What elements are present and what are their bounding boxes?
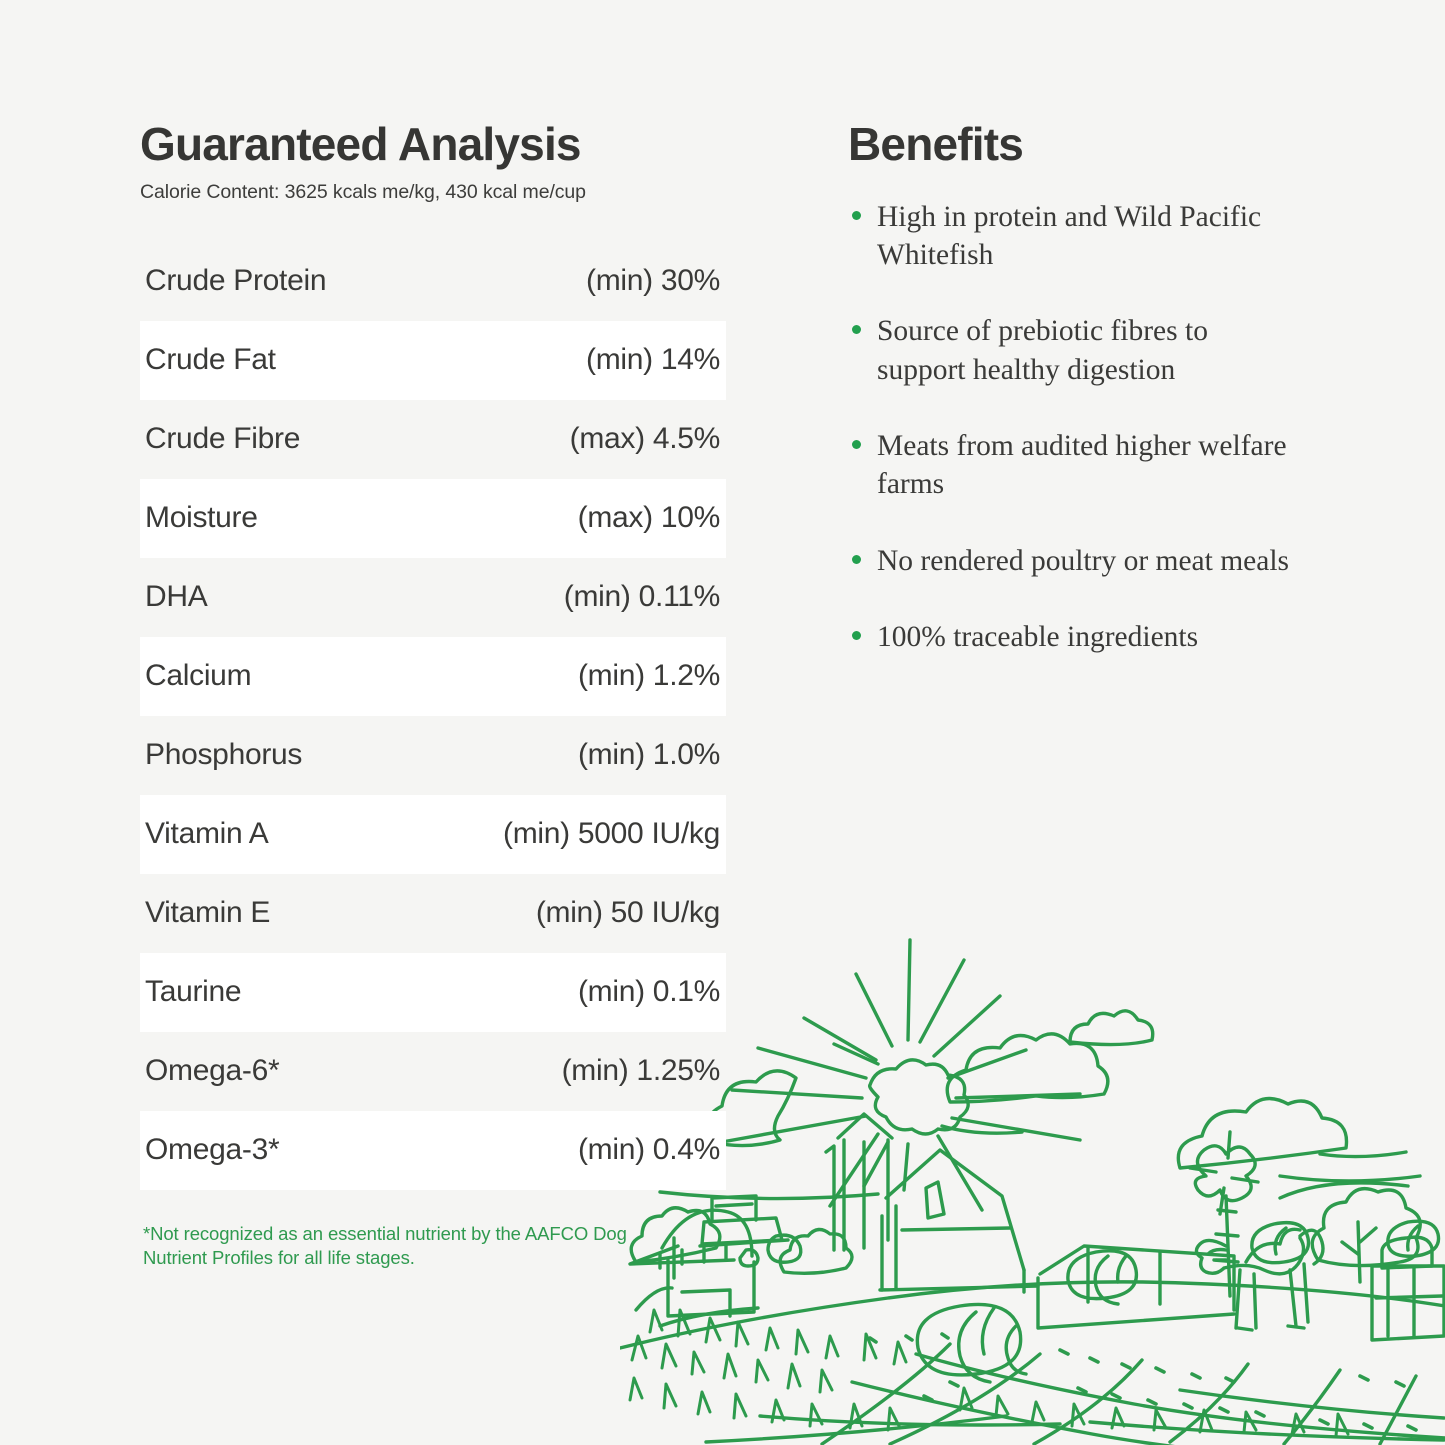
nutrient-value: (max) 4.5% xyxy=(570,422,720,456)
cloud-icon xyxy=(942,1034,1108,1133)
table-row: Moisture (max) 10% xyxy=(140,479,726,558)
silo-icon xyxy=(826,1114,892,1250)
nutrient-value: (min) 30% xyxy=(586,264,720,298)
field-rows xyxy=(620,1282,1445,1348)
farm-landscape-illustration xyxy=(620,930,1445,1445)
cloud-icon xyxy=(1280,1183,1408,1198)
nutrient-name: Vitamin A xyxy=(145,817,268,851)
nutrient-value: (min) 1.0% xyxy=(578,738,720,772)
table-row: Vitamin A (min) 5000 IU/kg xyxy=(140,795,726,874)
benefits-section: Benefits High in protein and Wild Pacifi… xyxy=(848,120,1318,656)
hay-bale-icon xyxy=(1372,1237,1444,1340)
table-row: Vitamin E (min) 50 IU/kg xyxy=(140,874,726,953)
nutrient-name: Crude Fat xyxy=(145,343,276,377)
nutrient-value: (min) 0.4% xyxy=(578,1133,720,1167)
table-row: Crude Fat (min) 14% xyxy=(140,321,726,400)
nutrient-name: Vitamin E xyxy=(145,896,270,930)
benefit-text: Meats from audited higher welfare farms xyxy=(877,430,1287,500)
guaranteed-analysis-table: Crude Protein (min) 30% Crude Fat (min) … xyxy=(140,242,726,1190)
bullet-icon xyxy=(852,555,861,564)
table-row: Crude Protein (min) 30% xyxy=(140,242,726,321)
table-row: DHA (min) 0.11% xyxy=(140,558,726,637)
nutrient-name: Moisture xyxy=(145,501,258,535)
benefits-title: Benefits xyxy=(848,120,1318,170)
nutrient-name: Phosphorus xyxy=(145,738,302,772)
nutrient-name: Omega-6* xyxy=(145,1054,279,1088)
nutrient-value: (max) 10% xyxy=(578,501,720,535)
list-item: 100% traceable ingredients xyxy=(848,618,1296,656)
barn-icon xyxy=(1038,1246,1234,1328)
list-item: Source of prebiotic fibres to support he… xyxy=(848,312,1296,389)
nutrient-value: (min) 14% xyxy=(586,343,720,377)
table-row: Omega-6* (min) 1.25% xyxy=(140,1032,726,1111)
bullet-icon xyxy=(852,211,861,220)
cloud-icon xyxy=(1070,1011,1153,1045)
grass xyxy=(630,1310,1348,1436)
nutrient-name: Calcium xyxy=(145,659,251,693)
table-row: Taurine (min) 0.1% xyxy=(140,953,726,1032)
benefit-text: No rendered poultry or meat meals xyxy=(877,545,1289,577)
nutrient-name: Crude Protein xyxy=(145,264,326,298)
tree-icon xyxy=(1312,1189,1420,1282)
nutrient-value: (min) 0.1% xyxy=(578,975,720,1009)
nutrient-name: DHA xyxy=(145,580,207,614)
bullet-icon xyxy=(852,631,861,640)
nutrient-value: (min) 0.11% xyxy=(564,580,720,614)
benefits-list: High in protein and Wild Pacific Whitefi… xyxy=(848,198,1318,657)
dog-icon xyxy=(1196,1230,1323,1330)
field-rows xyxy=(870,1334,1416,1430)
nutrient-value: (min) 5000 IU/kg xyxy=(503,817,720,851)
nutrient-name: Taurine xyxy=(145,975,241,1009)
field-rows xyxy=(706,1344,1445,1445)
bullet-icon xyxy=(852,440,861,449)
hay-bale-icon xyxy=(1252,1223,1309,1263)
hay-bale-icon xyxy=(917,1304,1026,1382)
sun-icon xyxy=(722,940,1080,1210)
cloud-icon xyxy=(1178,1099,1420,1181)
nutrient-value: (min) 1.2% xyxy=(578,659,720,693)
field-rows xyxy=(660,1308,758,1326)
table-row: Calcium (min) 1.2% xyxy=(140,637,726,716)
analysis-footnote: *Not recognized as an essential nutrient… xyxy=(143,1222,643,1272)
table-row: Phosphorus (min) 1.0% xyxy=(140,716,726,795)
tree-icon xyxy=(780,1229,852,1273)
benefit-text: Source of prebiotic fibres to support he… xyxy=(877,315,1208,385)
nutrient-name: Omega-3* xyxy=(145,1133,279,1167)
list-item: No rendered poultry or meat meals xyxy=(848,542,1296,580)
list-item: High in protein and Wild Pacific Whitefi… xyxy=(848,198,1296,275)
barn-icon xyxy=(880,1150,1038,1292)
calorie-content-text: Calorie Content: 3625 kcals me/kg, 430 k… xyxy=(140,181,740,204)
benefit-text: High in protein and Wild Pacific Whitefi… xyxy=(877,201,1261,271)
guaranteed-analysis-section: Guaranteed Analysis Calorie Content: 362… xyxy=(140,120,740,1271)
nutrient-value: (min) 50 IU/kg xyxy=(536,896,720,930)
hay-bale-icon xyxy=(1388,1221,1439,1256)
product-spec-page: Guaranteed Analysis Calorie Content: 362… xyxy=(0,0,1445,1445)
tree-icon xyxy=(1246,1229,1300,1262)
benefit-text: 100% traceable ingredients xyxy=(877,621,1198,653)
windmill-icon xyxy=(1190,1132,1258,1296)
bullet-icon xyxy=(852,325,861,334)
table-row: Crude Fibre (max) 4.5% xyxy=(140,400,726,479)
nutrient-value: (min) 1.25% xyxy=(562,1054,720,1088)
table-row: Omega-3* (min) 0.4% xyxy=(140,1111,726,1190)
list-item: Meats from audited higher welfare farms xyxy=(848,427,1296,504)
page-title: Guaranteed Analysis xyxy=(140,120,740,170)
hay-bale-icon xyxy=(1068,1251,1137,1304)
nutrient-name: Crude Fibre xyxy=(145,422,300,456)
